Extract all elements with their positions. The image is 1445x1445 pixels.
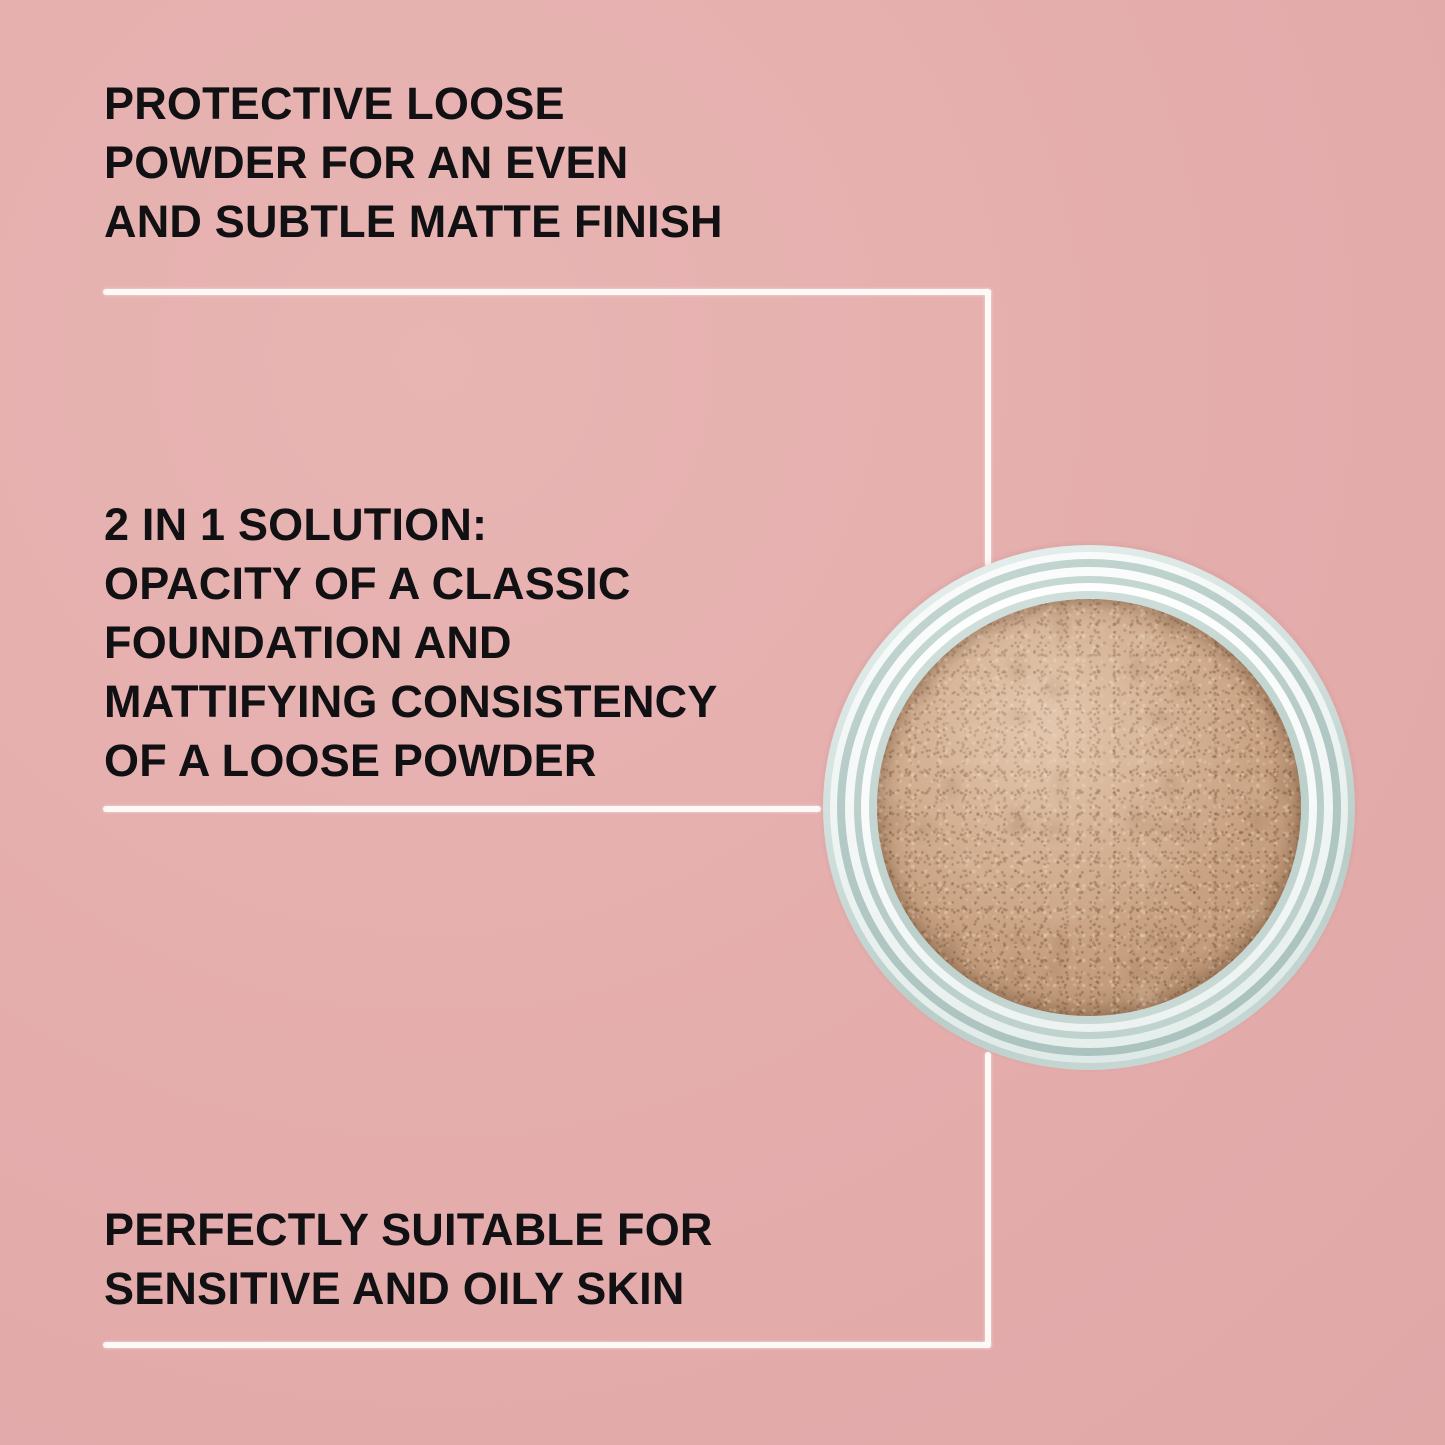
product-feature-graphic: PROTECTIVE LOOSE POWDER FOR AN EVEN AND … <box>0 0 1445 1445</box>
divider-line-vertical-upper <box>985 289 991 567</box>
powder-highlight <box>877 599 1301 1016</box>
claim-text-suitable-sensitive-oily-skin: PERFECTLY SUITABLE FOR SENSITIVE AND OIL… <box>104 1200 904 1318</box>
divider-line-middle <box>103 806 821 812</box>
powder-inner-shadow <box>877 599 1301 1016</box>
product-image-loose-powder-jar <box>823 545 1355 1070</box>
divider-line-vertical-lower <box>985 1052 991 1348</box>
powder-surface <box>877 599 1301 1016</box>
divider-line-top <box>103 289 991 295</box>
claim-text-protective-loose-powder: PROTECTIVE LOOSE POWDER FOR AN EVEN AND … <box>104 74 894 251</box>
claim-text-2-in-1-solution: 2 IN 1 SOLUTION: OPACITY OF A CLASSIC FO… <box>104 495 904 790</box>
divider-line-bottom <box>103 1342 991 1348</box>
